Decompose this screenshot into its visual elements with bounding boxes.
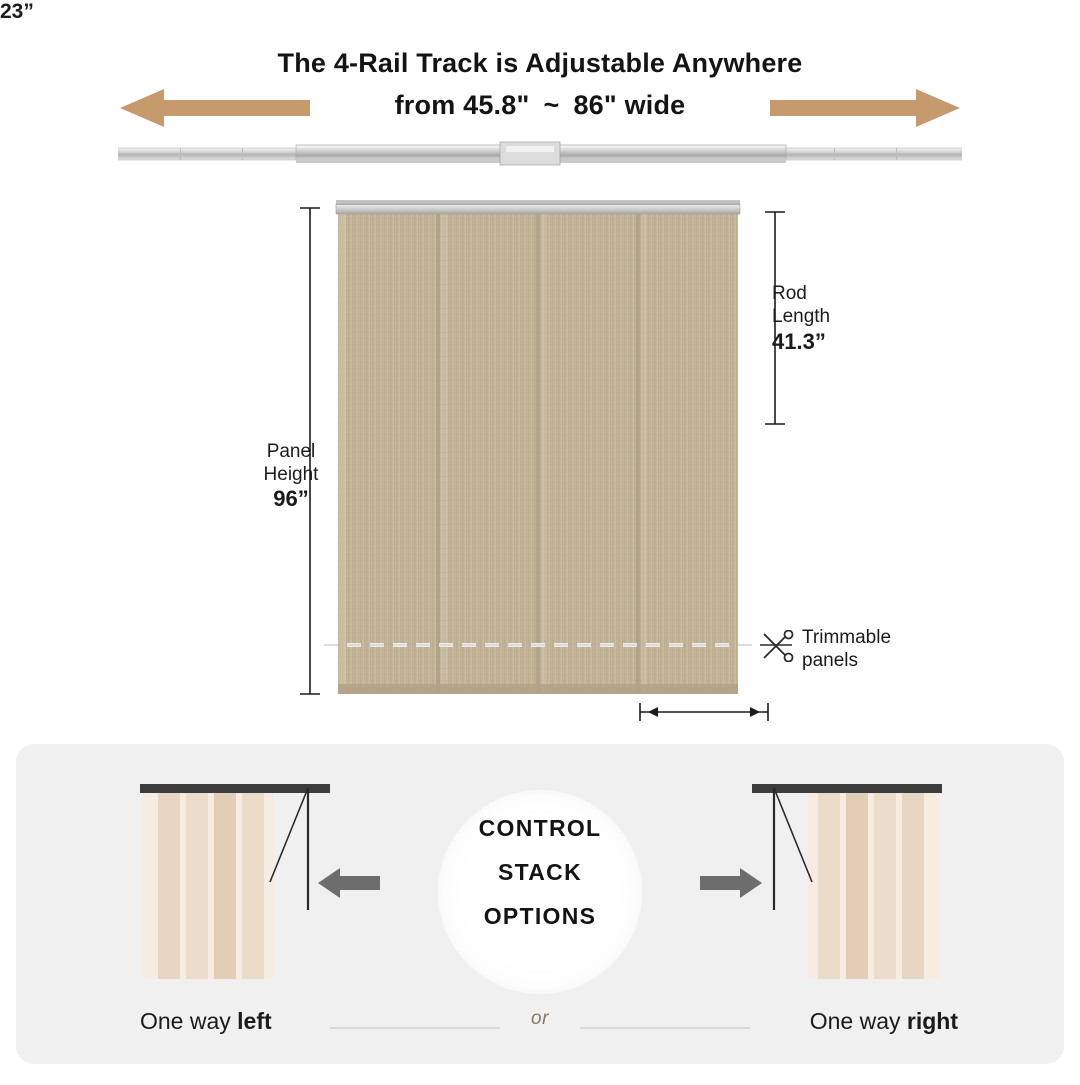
trimmable-panels-label: Trimmable panels: [802, 626, 952, 672]
panel-height-line1: Panel: [267, 441, 316, 462]
panel-height-label: Panel Height 96”: [248, 440, 334, 510]
panel-width-value: 23”: [0, 0, 1080, 24]
control-stack-options-text: CONTROL STACK OPTIONS: [420, 806, 660, 938]
width-max-label: 86" wide: [573, 90, 685, 120]
trimmable-line1: Trimmable: [802, 627, 891, 648]
page-title: The 4-Rail Track is Adjustable Anywhere: [0, 48, 1080, 79]
rod-length-line1: Rod: [772, 283, 807, 304]
or-label: or: [0, 1008, 1080, 1030]
stack-left-illustration: [130, 770, 350, 995]
range-separator: ~: [529, 90, 573, 120]
arrow-right-icon: [770, 88, 960, 133]
control-line-3: OPTIONS: [420, 894, 660, 938]
arrow-left-icon: [318, 866, 380, 905]
arrow-left-icon: [120, 88, 310, 133]
rod-length-label: Rod Length 41.3”: [772, 282, 892, 353]
control-line-1: CONTROL: [420, 806, 660, 850]
rod-length-line2: Length: [772, 306, 830, 327]
arrow-right-icon: [700, 866, 762, 905]
control-line-2: STACK: [420, 850, 660, 894]
scissors-icon: [760, 630, 794, 667]
panel-height-value: 96”: [248, 487, 334, 510]
trimmable-line2: panels: [802, 650, 858, 671]
headrail-track-graphic: [118, 140, 962, 170]
rod-length-value: 41.3”: [772, 330, 892, 353]
panel-height-line2: Height: [264, 464, 319, 485]
stack-right-illustration: [732, 770, 952, 995]
width-min-label: from 45.8": [395, 90, 530, 120]
